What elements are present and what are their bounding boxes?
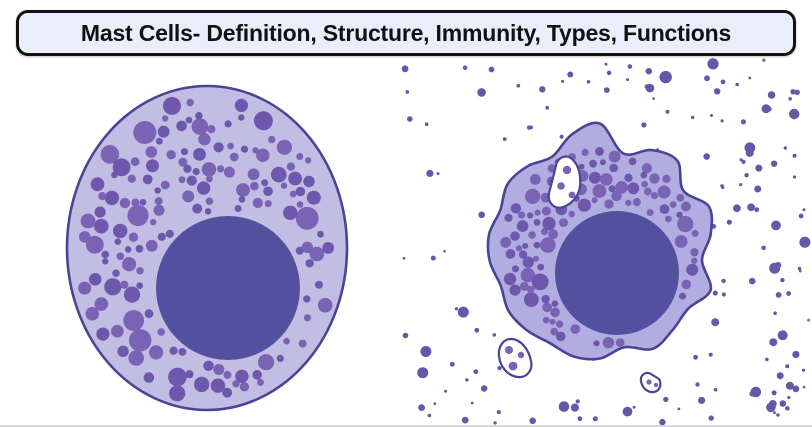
granule <box>193 168 200 175</box>
granule <box>290 191 297 198</box>
released-granule <box>761 246 766 251</box>
granule <box>81 214 96 229</box>
nucleus-left <box>156 216 300 360</box>
released-granule <box>803 208 806 211</box>
granule <box>296 187 306 197</box>
granule <box>136 267 143 274</box>
released-granule <box>768 91 776 99</box>
granule <box>161 181 170 190</box>
released-granule <box>784 146 787 149</box>
released-granule <box>646 68 652 74</box>
released-granule <box>703 153 710 160</box>
released-granule <box>406 90 410 94</box>
released-granule <box>778 330 788 340</box>
released-granule <box>721 119 724 122</box>
granule <box>647 209 654 216</box>
granule <box>271 167 287 183</box>
released-granule <box>463 66 468 71</box>
released-granule <box>403 257 406 260</box>
granule <box>299 340 307 348</box>
granule <box>283 338 290 345</box>
granule <box>516 245 522 251</box>
granule <box>256 149 269 162</box>
released-granule <box>776 292 782 298</box>
released-granule <box>709 353 713 357</box>
granule <box>510 231 520 241</box>
released-granule <box>443 250 446 253</box>
released-granule <box>802 369 805 372</box>
granule <box>530 174 541 185</box>
granule <box>146 240 158 252</box>
granule <box>679 293 686 300</box>
granule <box>303 295 310 302</box>
released-granule <box>497 410 501 414</box>
released-granule <box>740 158 743 161</box>
granule <box>179 348 187 356</box>
granule <box>235 370 248 383</box>
granule <box>552 300 559 307</box>
granule <box>265 200 272 207</box>
released-granule <box>493 421 496 424</box>
released-granule <box>431 256 436 261</box>
vacuole-granule <box>557 182 565 190</box>
released-granule <box>474 328 479 333</box>
granule <box>149 345 163 359</box>
granule <box>120 281 128 289</box>
released-granule <box>749 278 756 285</box>
granule <box>124 287 140 303</box>
released-granule <box>628 64 633 69</box>
granule <box>307 191 321 205</box>
granule <box>288 172 302 186</box>
granule <box>225 120 232 127</box>
released-granule <box>695 382 699 386</box>
granule <box>240 382 249 391</box>
released-granule <box>444 390 447 393</box>
granule <box>129 329 151 351</box>
granule <box>131 157 140 166</box>
granule <box>248 168 260 180</box>
granule <box>518 212 525 219</box>
released-granule <box>698 397 705 404</box>
granule <box>195 112 202 119</box>
granule <box>128 175 136 183</box>
granule <box>296 153 303 160</box>
released-granule <box>721 279 725 283</box>
released-granule <box>458 307 469 318</box>
granule <box>101 251 109 259</box>
granule <box>676 194 684 202</box>
granule <box>176 121 187 132</box>
granule <box>600 159 606 165</box>
released-granule <box>645 84 650 89</box>
granule <box>157 328 165 336</box>
released-granule <box>450 362 455 367</box>
granule <box>534 219 541 226</box>
released-granule <box>762 59 765 62</box>
released-granule <box>765 358 769 362</box>
granule <box>241 146 248 153</box>
granule <box>235 205 242 212</box>
granule <box>662 175 670 183</box>
granule <box>318 298 333 313</box>
granule <box>609 151 621 163</box>
released-granule <box>790 89 795 94</box>
granule <box>166 230 174 238</box>
granule <box>543 317 550 324</box>
mast-cell-figure <box>0 58 812 425</box>
granule <box>691 258 697 264</box>
granule <box>578 199 591 212</box>
released-granule <box>693 355 698 360</box>
granule <box>550 319 556 325</box>
granule <box>230 153 239 162</box>
granule <box>261 179 268 186</box>
granule <box>677 216 693 232</box>
released-granule <box>641 122 646 127</box>
granule <box>296 247 304 255</box>
released-granule <box>428 414 432 418</box>
granule <box>582 149 589 156</box>
released-granule <box>426 170 433 177</box>
granule <box>207 125 215 133</box>
granule <box>306 259 314 267</box>
granule <box>104 278 121 295</box>
released-granule <box>711 318 719 326</box>
granule <box>686 264 698 276</box>
released-granule <box>799 237 810 248</box>
granule <box>537 264 544 271</box>
released-granule <box>722 292 726 296</box>
granule <box>214 142 224 152</box>
granule <box>628 182 640 194</box>
granule <box>89 273 102 286</box>
released-granule <box>707 58 718 69</box>
vacuole-granule <box>646 379 651 384</box>
released-granule <box>497 366 501 370</box>
granule <box>641 181 648 188</box>
released-granule <box>462 417 469 424</box>
granule <box>186 117 193 124</box>
released-granule <box>704 75 710 81</box>
released-granule <box>793 175 796 178</box>
granule <box>559 218 568 227</box>
granule <box>163 97 181 115</box>
released-granule <box>660 71 672 83</box>
released-granule <box>710 114 713 117</box>
granule <box>122 257 136 271</box>
granule <box>525 189 540 204</box>
granule <box>593 340 599 346</box>
granule <box>556 320 563 327</box>
released-granule <box>766 106 771 111</box>
released-granule <box>678 408 681 411</box>
granule <box>169 385 185 401</box>
released-granule <box>714 88 720 94</box>
granule <box>589 172 601 184</box>
released-granule <box>604 87 610 93</box>
released-granule <box>516 84 520 88</box>
granule <box>504 273 516 285</box>
granule <box>236 183 250 197</box>
granule <box>633 198 641 206</box>
granule <box>112 270 119 277</box>
released-granule <box>489 67 495 73</box>
granule <box>625 200 631 206</box>
released-granule <box>780 400 787 407</box>
granule <box>238 114 244 120</box>
released-granule <box>709 415 714 420</box>
granule <box>277 355 284 362</box>
granule <box>500 237 511 248</box>
granule <box>192 118 209 135</box>
granule <box>127 205 148 226</box>
released-granule <box>799 270 802 273</box>
released-granule <box>773 411 776 414</box>
granule <box>541 295 549 303</box>
granule <box>624 174 632 182</box>
granule <box>143 175 153 185</box>
granule <box>593 184 607 198</box>
granule <box>136 282 143 289</box>
released-granule <box>744 173 748 177</box>
granule <box>158 233 166 241</box>
released-granule <box>605 63 608 66</box>
released-granule <box>626 78 629 81</box>
released-granule <box>792 351 799 358</box>
vacuole-granule <box>654 383 658 387</box>
granule <box>287 163 295 171</box>
granule <box>315 281 323 289</box>
granule <box>542 207 551 216</box>
page-title: Mast Cells- Definition, Structure, Immun… <box>81 20 731 47</box>
granule <box>533 256 539 262</box>
granule <box>644 188 652 196</box>
released-granule <box>727 220 732 225</box>
granule <box>182 190 194 202</box>
granule <box>94 219 109 234</box>
granule <box>156 138 163 145</box>
released-granule <box>403 333 409 339</box>
granule <box>125 246 132 253</box>
released-granule <box>587 80 591 84</box>
released-granule <box>576 399 580 403</box>
granule <box>187 99 194 106</box>
granule <box>115 238 122 245</box>
released-granule <box>578 416 583 421</box>
released-granule <box>527 126 531 130</box>
granule <box>203 361 213 371</box>
granule <box>194 377 209 392</box>
released-granule <box>771 221 781 231</box>
released-granule <box>785 364 789 368</box>
granule <box>192 204 202 214</box>
released-granule <box>493 333 497 337</box>
released-granule <box>733 204 741 212</box>
vacuole-granule <box>509 362 518 371</box>
granule <box>239 196 246 203</box>
granule <box>146 146 158 158</box>
granule <box>517 220 529 232</box>
released-granule <box>780 278 784 282</box>
granule <box>277 140 292 155</box>
released-granule <box>785 406 790 411</box>
illustration-page: Mast Cells- Definition, Structure, Immun… <box>0 0 812 427</box>
released-granule <box>503 137 507 141</box>
granule <box>283 206 297 220</box>
granule <box>120 198 130 208</box>
granule <box>556 332 566 342</box>
granule <box>511 203 521 213</box>
released-granule <box>755 165 762 172</box>
mast-cell-svg <box>0 58 812 425</box>
granule <box>185 370 193 378</box>
granule <box>681 202 691 212</box>
granule <box>595 147 604 156</box>
released-granule <box>721 80 726 85</box>
granule <box>140 199 147 206</box>
granule <box>670 201 677 208</box>
released-granule <box>787 396 790 399</box>
released-granule <box>471 402 474 405</box>
released-granule <box>666 110 670 114</box>
released-granule <box>769 263 780 274</box>
granule <box>542 302 552 312</box>
granule <box>145 309 154 318</box>
granule <box>155 197 163 205</box>
released-granule <box>773 311 777 315</box>
released-granule <box>433 402 436 405</box>
released-granule <box>539 86 545 92</box>
released-granule <box>691 116 694 119</box>
released-granule <box>478 212 485 219</box>
granule <box>98 192 106 200</box>
granule <box>252 370 262 380</box>
granule <box>611 191 621 201</box>
granule <box>211 379 225 393</box>
vacuole-granule <box>563 166 571 174</box>
vacuole-granule <box>518 352 524 358</box>
granule <box>187 176 197 186</box>
granule <box>162 115 168 121</box>
released-granule <box>481 385 487 391</box>
released-granule <box>771 161 777 167</box>
released-granule <box>407 116 413 122</box>
granule <box>609 164 618 173</box>
released-granule <box>560 135 564 139</box>
granule <box>509 285 520 296</box>
granule <box>113 224 127 238</box>
granule <box>263 186 273 196</box>
granule <box>675 235 688 248</box>
released-granule <box>776 413 779 416</box>
released-granule <box>402 65 409 72</box>
released-granule <box>437 172 440 175</box>
granule <box>105 191 119 205</box>
granule <box>95 207 106 218</box>
granule <box>692 230 699 237</box>
released-granule <box>652 97 655 100</box>
granule <box>253 198 263 208</box>
released-granule <box>477 88 486 97</box>
degranulating-mast-cell <box>402 58 811 425</box>
released-granule <box>545 106 549 110</box>
released-granule <box>571 404 579 412</box>
granule <box>592 197 598 203</box>
granule <box>532 274 549 291</box>
released-granule <box>772 390 777 395</box>
granule <box>91 177 105 191</box>
granule <box>568 211 575 218</box>
title-banner: Mast Cells- Definition, Structure, Immun… <box>16 10 796 56</box>
granule <box>202 162 216 176</box>
released-granule <box>633 406 636 409</box>
granule <box>629 158 637 166</box>
granule <box>150 219 156 225</box>
released-granule <box>788 97 792 101</box>
granule <box>322 242 334 254</box>
granule <box>79 231 91 243</box>
granule <box>111 172 118 179</box>
released-granule <box>420 346 431 357</box>
granule <box>317 231 324 238</box>
released-granule <box>663 397 668 402</box>
granule <box>117 346 128 357</box>
granule <box>660 204 670 214</box>
granule <box>690 248 698 256</box>
granule <box>206 197 214 205</box>
granule <box>528 231 536 239</box>
released-granule <box>747 203 755 211</box>
released-granule <box>803 386 806 389</box>
granule <box>155 187 161 193</box>
granule <box>527 212 533 218</box>
granule <box>604 199 613 208</box>
released-granule <box>607 71 612 76</box>
granule <box>158 126 170 138</box>
granule <box>111 325 124 338</box>
granule <box>128 350 144 366</box>
released-granule <box>529 418 536 425</box>
granule <box>213 364 224 375</box>
granule <box>535 210 541 216</box>
granule <box>133 121 156 144</box>
granule <box>146 159 159 172</box>
granule <box>642 163 652 173</box>
released-granule <box>593 416 598 421</box>
released-granule <box>465 378 468 381</box>
released-granule <box>659 419 665 425</box>
released-granule <box>777 372 784 379</box>
granule <box>524 292 539 307</box>
granule <box>303 176 314 187</box>
granule <box>534 242 541 249</box>
released-granule <box>769 338 777 346</box>
released-granule <box>754 207 759 212</box>
granule <box>123 310 144 331</box>
granule <box>550 308 560 318</box>
granule <box>224 167 235 178</box>
released-granule <box>748 77 751 80</box>
granule <box>257 379 264 386</box>
released-granule <box>786 291 791 296</box>
granule <box>522 243 528 249</box>
released-granule <box>455 307 458 310</box>
released-granule <box>714 388 718 392</box>
granule <box>570 324 580 334</box>
granule <box>181 148 188 155</box>
granule <box>676 212 682 218</box>
